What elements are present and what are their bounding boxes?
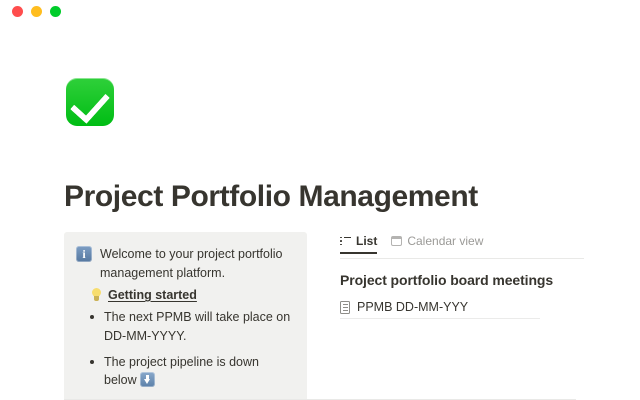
view-tabs: List Calendar view [340, 234, 584, 259]
page-title[interactable]: Project Portfolio Management [64, 179, 478, 215]
callout-welcome-text: Welcome to your project portfolio manage… [100, 245, 294, 282]
bullet-text: The next PPMB will take place on DD-MM-Y… [104, 310, 290, 343]
tab-list-label: List [356, 234, 377, 248]
board-meetings-heading: Project portfolio board meetings [340, 272, 584, 288]
calendar-icon [391, 236, 402, 246]
tab-calendar-view[interactable]: Calendar view [391, 234, 483, 253]
maximize-window-button[interactable] [50, 6, 61, 17]
list-item[interactable]: PPMB DD-MM-YYY [340, 297, 540, 319]
list-item: The next PPMB will take place on DD-MM-Y… [86, 308, 294, 346]
page-content: Project Portfolio Management Welcome to … [0, 22, 640, 400]
white-heavy-check-mark-icon [66, 78, 114, 126]
light-bulb-icon [90, 288, 103, 302]
page-icon[interactable] [66, 78, 118, 130]
close-window-button[interactable] [12, 6, 23, 17]
tab-calendar-view-label: Calendar view [407, 234, 483, 248]
getting-started-label: Getting started [108, 288, 197, 302]
list-icon [340, 237, 351, 246]
list-item: The project pipeline is down below [86, 353, 294, 391]
document-icon [340, 301, 350, 314]
meeting-item-label: PPMB DD-MM-YYY [357, 300, 468, 314]
content-columns: Welcome to your project portfolio manage… [64, 232, 584, 400]
bullet-text: The project pipeline is down below [104, 355, 259, 388]
tab-list[interactable]: List [340, 234, 377, 253]
down-arrow-icon [140, 372, 155, 387]
meeting-list: PPMB DD-MM-YYY [340, 297, 584, 319]
database-views: List Calendar view Project portfolio boa… [340, 232, 584, 400]
callout-welcome-row: Welcome to your project portfolio manage… [76, 245, 294, 282]
callout-bullet-list: The next PPMB will take place on DD-MM-Y… [86, 308, 294, 390]
welcome-callout[interactable]: Welcome to your project portfolio manage… [64, 232, 307, 400]
traffic-light-group [12, 6, 61, 17]
information-icon [76, 246, 92, 262]
window-titlebar [0, 0, 640, 22]
minimize-window-button[interactable] [31, 6, 42, 17]
getting-started-row[interactable]: Getting started [90, 288, 294, 302]
